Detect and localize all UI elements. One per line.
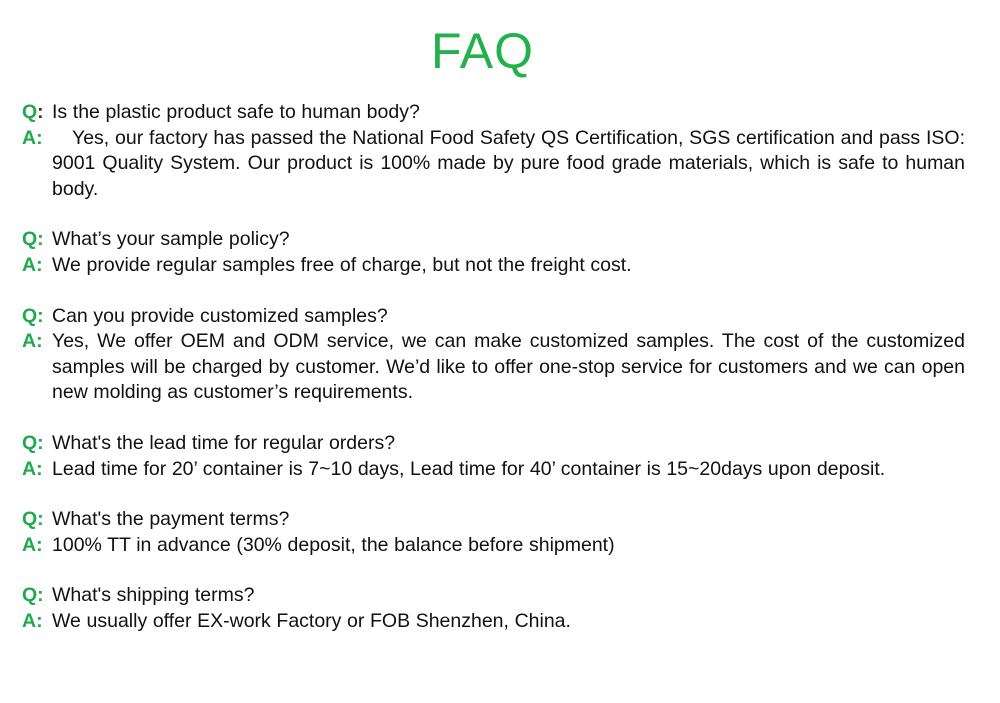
question-label: Q: [22,100,44,126]
faq-item: Q: What's the lead time for regular orde… [22,431,965,482]
faq-answer-row: A: We usually offer EX-work Factory or F… [22,609,965,635]
answer-label: A: [22,126,43,152]
faq-answer-row: A: Yes, our factory has passed the Natio… [22,126,965,203]
question-label-letter: Q [22,228,37,250]
faq-answer-text: Lead time for 20’ container is 7~10 days… [52,457,965,483]
question-label-colon: : [37,584,44,606]
faq-answer-row: A: Lead time for 20’ container is 7~10 d… [22,457,965,483]
answer-label-letter: A [22,534,36,556]
answer-label-colon: : [36,610,43,632]
question-label: Q: [22,227,44,253]
faq-answer-row: A: Yes, We offer OEM and ODM service, we… [22,329,965,406]
question-label-letter: Q [22,305,37,327]
faq-item: Q: What's the payment terms? A: 100% TT … [22,507,965,558]
answer-label-letter: A [22,610,36,632]
question-label-letter: Q [22,584,37,606]
question-label-letter: Q [22,432,37,454]
faq-answer-text: We usually offer EX-work Factory or FOB … [52,609,965,635]
question-label-letter: Q [22,508,37,530]
faq-answer-text: Yes, our factory has passed the National… [52,126,965,203]
question-label-colon: : [37,228,44,250]
question-label: Q: [22,304,44,330]
answer-label-colon: : [36,534,43,556]
question-label-colon: : [37,305,44,327]
faq-question-row: Q: Is the plastic product safe to human … [22,100,965,126]
answer-label-letter: A [22,458,36,480]
question-label-colon: : [37,432,44,454]
answer-label-colon: : [36,127,43,149]
faq-answer-text: 100% TT in advance (30% deposit, the bal… [52,533,965,559]
faq-question-row: Q: What's shipping terms? [22,583,965,609]
answer-label: A: [22,329,43,355]
faq-question-row: Q: What’s your sample policy? [22,227,965,253]
faq-question-row: Q: What's the payment terms? [22,507,965,533]
answer-label: A: [22,253,43,279]
faq-item: Q: What's shipping terms? A: We usually … [22,583,965,634]
faq-question-text: What’s your sample policy? [52,227,965,253]
question-label: Q: [22,507,44,533]
answer-label: A: [22,609,43,635]
faq-item: Q: What’s your sample policy? A: We prov… [22,227,965,278]
faq-question-text: What's the payment terms? [52,507,965,533]
question-label-colon: : [37,508,44,530]
answer-label: A: [22,533,43,559]
answer-label-colon: : [36,458,43,480]
faq-question-row: Q: Can you provide customized samples? [22,304,965,330]
faq-question-text: Can you provide customized samples? [52,304,965,330]
answer-label-letter: A [22,254,36,276]
answer-label-colon: : [36,330,43,352]
page-title: FAQ [22,0,965,100]
question-label-letter: Q [22,101,37,123]
faq-answer-row: A: 100% TT in advance (30% deposit, the … [22,533,965,559]
faq-question-row: Q: What's the lead time for regular orde… [22,431,965,457]
faq-list: Q: Is the plastic product safe to human … [22,100,965,635]
question-label-colon: : [37,101,44,123]
faq-answer-text: Yes, We offer OEM and ODM service, we ca… [52,329,965,406]
faq-answer-text: We provide regular samples free of charg… [52,253,965,279]
faq-question-text: What's the lead time for regular orders? [52,431,965,457]
answer-label-colon: : [36,254,43,276]
answer-label-letter: A [22,330,36,352]
faq-item: Q: Can you provide customized samples? A… [22,304,965,406]
faq-page: FAQ Q: Is the plastic product safe to hu… [0,0,1000,703]
question-label: Q: [22,431,44,457]
question-label: Q: [22,583,44,609]
answer-label-letter: A [22,127,36,149]
faq-question-text: What's shipping terms? [52,583,965,609]
faq-question-text: Is the plastic product safe to human bod… [52,100,965,126]
faq-answer-row: A: We provide regular samples free of ch… [22,253,965,279]
faq-item: Q: Is the plastic product safe to human … [22,100,965,202]
answer-label: A: [22,457,43,483]
